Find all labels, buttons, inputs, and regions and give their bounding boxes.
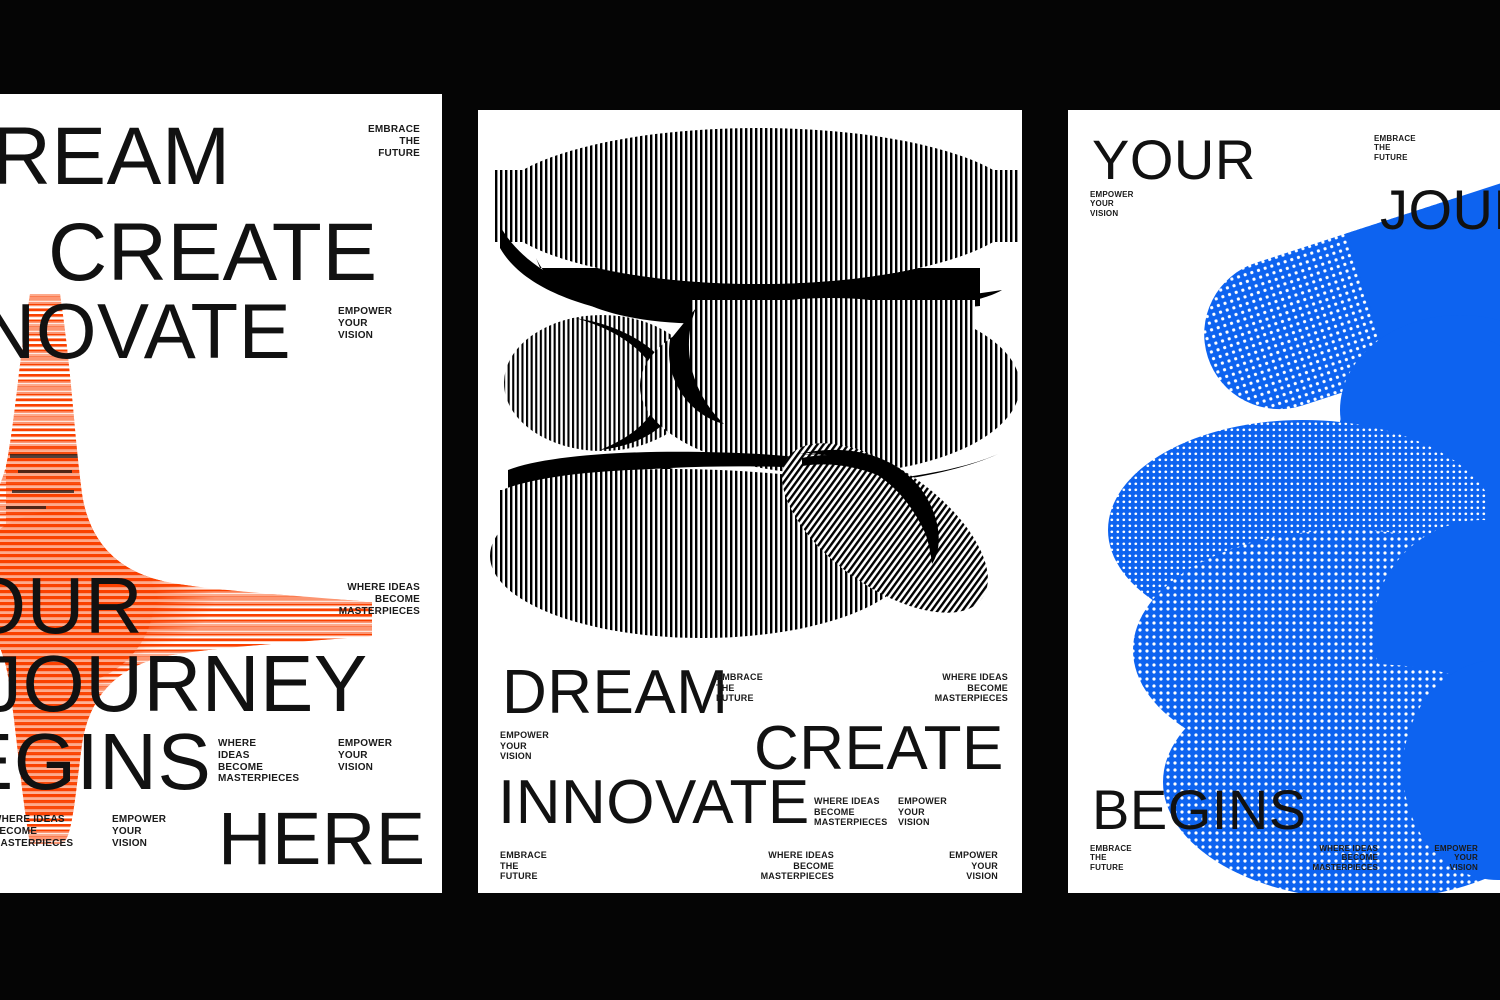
headline-your: YOUR bbox=[1092, 132, 1256, 188]
tagline-empower-bottom: EMPOWER YOUR VISION bbox=[1368, 844, 1478, 872]
tagline-empower-bottom: EMPOWER YOUR VISION bbox=[112, 814, 232, 849]
headline-jour: JOUR bbox=[1380, 182, 1500, 238]
tagline-where-ideas-top-right: WHERE IDEAS BECOME MASTERPIECES bbox=[868, 672, 1008, 704]
tagline-embrace-the-future: EMBRACE THE FUTURE bbox=[716, 672, 826, 704]
headline-journey: JOURNEY bbox=[0, 644, 368, 724]
tagline-embrace-bottom: EMBRACE THE FUTURE bbox=[500, 850, 610, 882]
tagline-empower-mid: EMPOWER YOUR VISION bbox=[898, 796, 1008, 828]
poster-dream-create-innovate-orange[interactable]: DREAM CREATE INNOVATE YOUR JOURNEY BEGIN… bbox=[0, 94, 442, 893]
poster-your-journey-begins-here-blue[interactable]: YOUR JOUR BEGINS H EMBRACE THE FUTURE EM… bbox=[1068, 110, 1500, 893]
tagline-empower-your-vision: EMPOWER YOUR VISION bbox=[338, 306, 442, 341]
headline-your: YOUR bbox=[0, 566, 143, 646]
tagline-embrace-the-future: EMBRACE THE FUTURE bbox=[1374, 134, 1474, 162]
tagline-empower-left: EMPOWER YOUR VISION bbox=[500, 730, 610, 762]
black-striped-pills-artwork bbox=[480, 118, 1020, 648]
headline-dream: DREAM bbox=[0, 116, 231, 198]
tagline-where-ideas-stack: WHERE IDEAS BECOME MASTERPIECES bbox=[218, 738, 348, 785]
tagline-where-ideas-bottom: WHERE IDEAS BECOME MASTERPIECES bbox=[694, 850, 834, 882]
headline-create: CREATE bbox=[48, 212, 378, 294]
tagline-empower-your-vision-mid: EMPOWER YOUR VISION bbox=[338, 738, 442, 773]
poster-dream-create-innovate-striped[interactable]: DREAM CREATE INNOVATE EMBRACE THE FUTURE… bbox=[478, 110, 1022, 893]
poster-showcase: DREAM CREATE INNOVATE YOUR JOURNEY BEGIN… bbox=[0, 0, 1500, 1000]
headline-innovate: INNOVATE bbox=[498, 772, 810, 834]
tagline-where-ideas-bottom: WHERE IDEAS BECOME MASTERPIECES bbox=[1248, 844, 1378, 872]
tagline-embrace-bottom: EMBRACE THE FUTURE bbox=[1090, 844, 1190, 872]
tagline-where-ideas-become-masterpieces: WHERE IDEAS BECOME MASTERPIECES bbox=[280, 582, 420, 617]
headline-here: HERE bbox=[218, 802, 426, 876]
headline-begins: BEGINS bbox=[1092, 782, 1307, 838]
tagline-where-ideas-right: WHERE IDEAS BECOME MASTERPIECES bbox=[1460, 790, 1500, 818]
tagline-empower-your-vision: EMPOWER YOUR VISION bbox=[1090, 190, 1190, 218]
headline-dream: DREAM bbox=[502, 662, 728, 724]
tagline-embrace-the-future: EMBRACE THE FUTURE bbox=[300, 124, 420, 159]
tagline-empower-bottom-right: EMPOWER YOUR VISION bbox=[888, 850, 998, 882]
headline-innovate: INNOVATE bbox=[0, 292, 291, 370]
headline-begins: BEGINS bbox=[0, 722, 211, 802]
